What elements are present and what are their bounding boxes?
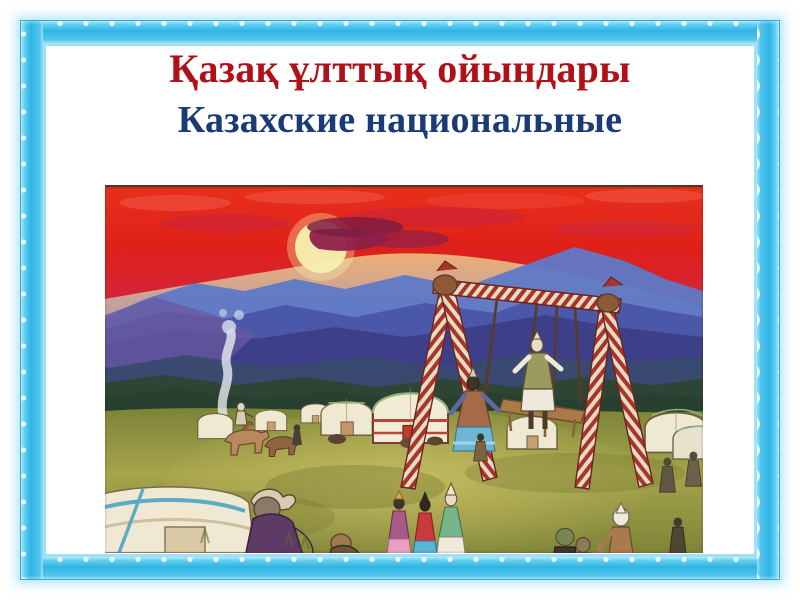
- page-title-russian: Казахские национальные: [48, 100, 752, 142]
- slide-root: Қазақ ұлттық ойындары Казахские национал…: [0, 0, 800, 600]
- frame-band-right-icon: [757, 21, 779, 579]
- title-block: Қазақ ұлттық ойындары Казахские национал…: [48, 48, 752, 142]
- illustration-frame: [105, 185, 703, 553]
- frame-band-left-icon: [21, 21, 43, 579]
- steppe-sunset-illustration: [105, 187, 703, 553]
- page-title-kazakh: Қазақ ұлттық ойындары: [48, 48, 752, 90]
- frame-band-bottom-icon: [21, 557, 779, 579]
- frame-band-top-icon: [21, 21, 779, 43]
